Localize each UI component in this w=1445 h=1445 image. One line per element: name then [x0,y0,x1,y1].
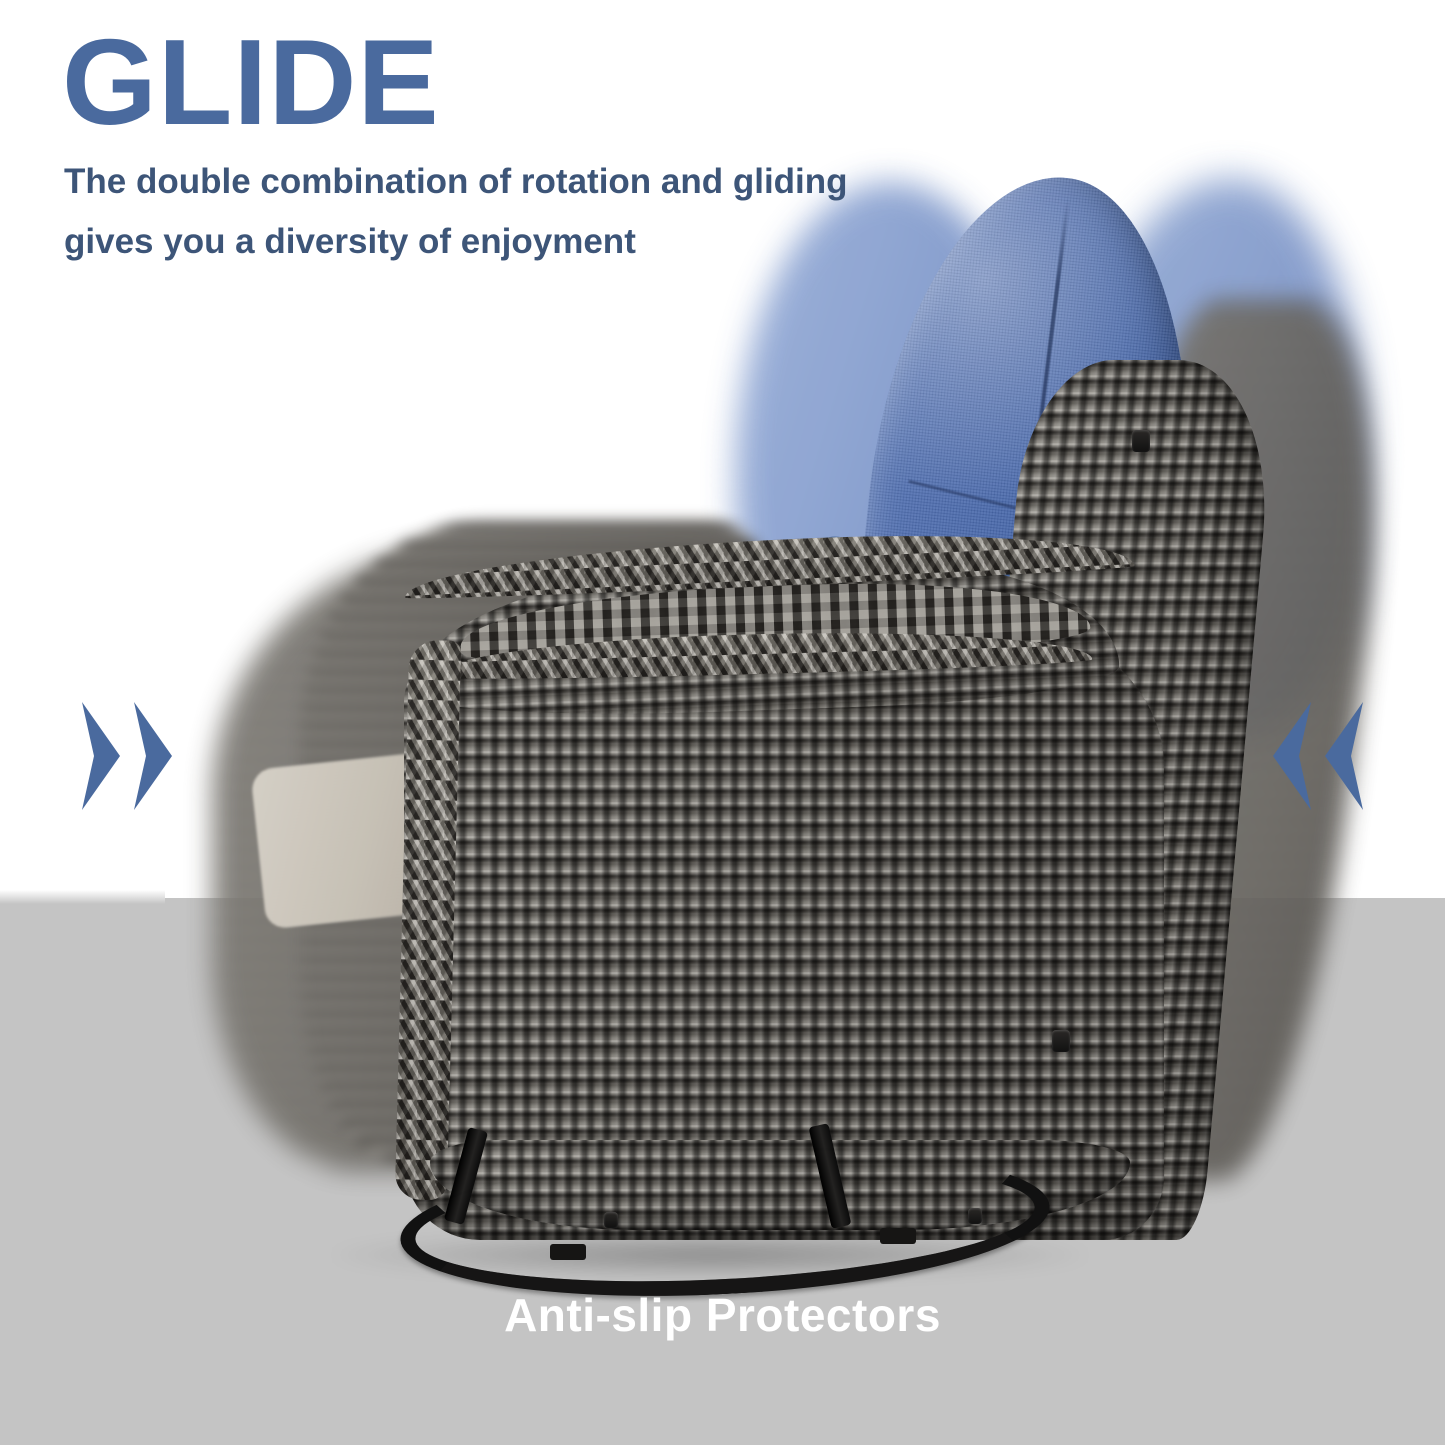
chevron-right-icon [130,700,176,812]
frame-rivet [1132,430,1150,452]
swivel-base [370,1128,1050,1268]
base-ring [397,1135,1054,1311]
chevron-right-icon [78,700,124,812]
glide-direction-left [78,700,176,812]
anti-slip-protector-foot [550,1244,586,1260]
chevron-left-icon [1321,700,1367,812]
glide-direction-right [1269,700,1367,812]
chevron-left-icon [1269,700,1315,812]
page-subtitle: The double combination of rotation and g… [64,152,848,272]
frame-rivet [1052,1030,1070,1052]
page-title: GLIDE [62,26,848,138]
headline-block: GLIDE The double combination of rotation… [62,26,848,273]
feature-caption: Anti-slip Protectors [0,1288,1445,1342]
product-feature-image: GLIDE The double combination of rotation… [0,0,1445,1445]
anti-slip-protector-foot [880,1228,916,1244]
